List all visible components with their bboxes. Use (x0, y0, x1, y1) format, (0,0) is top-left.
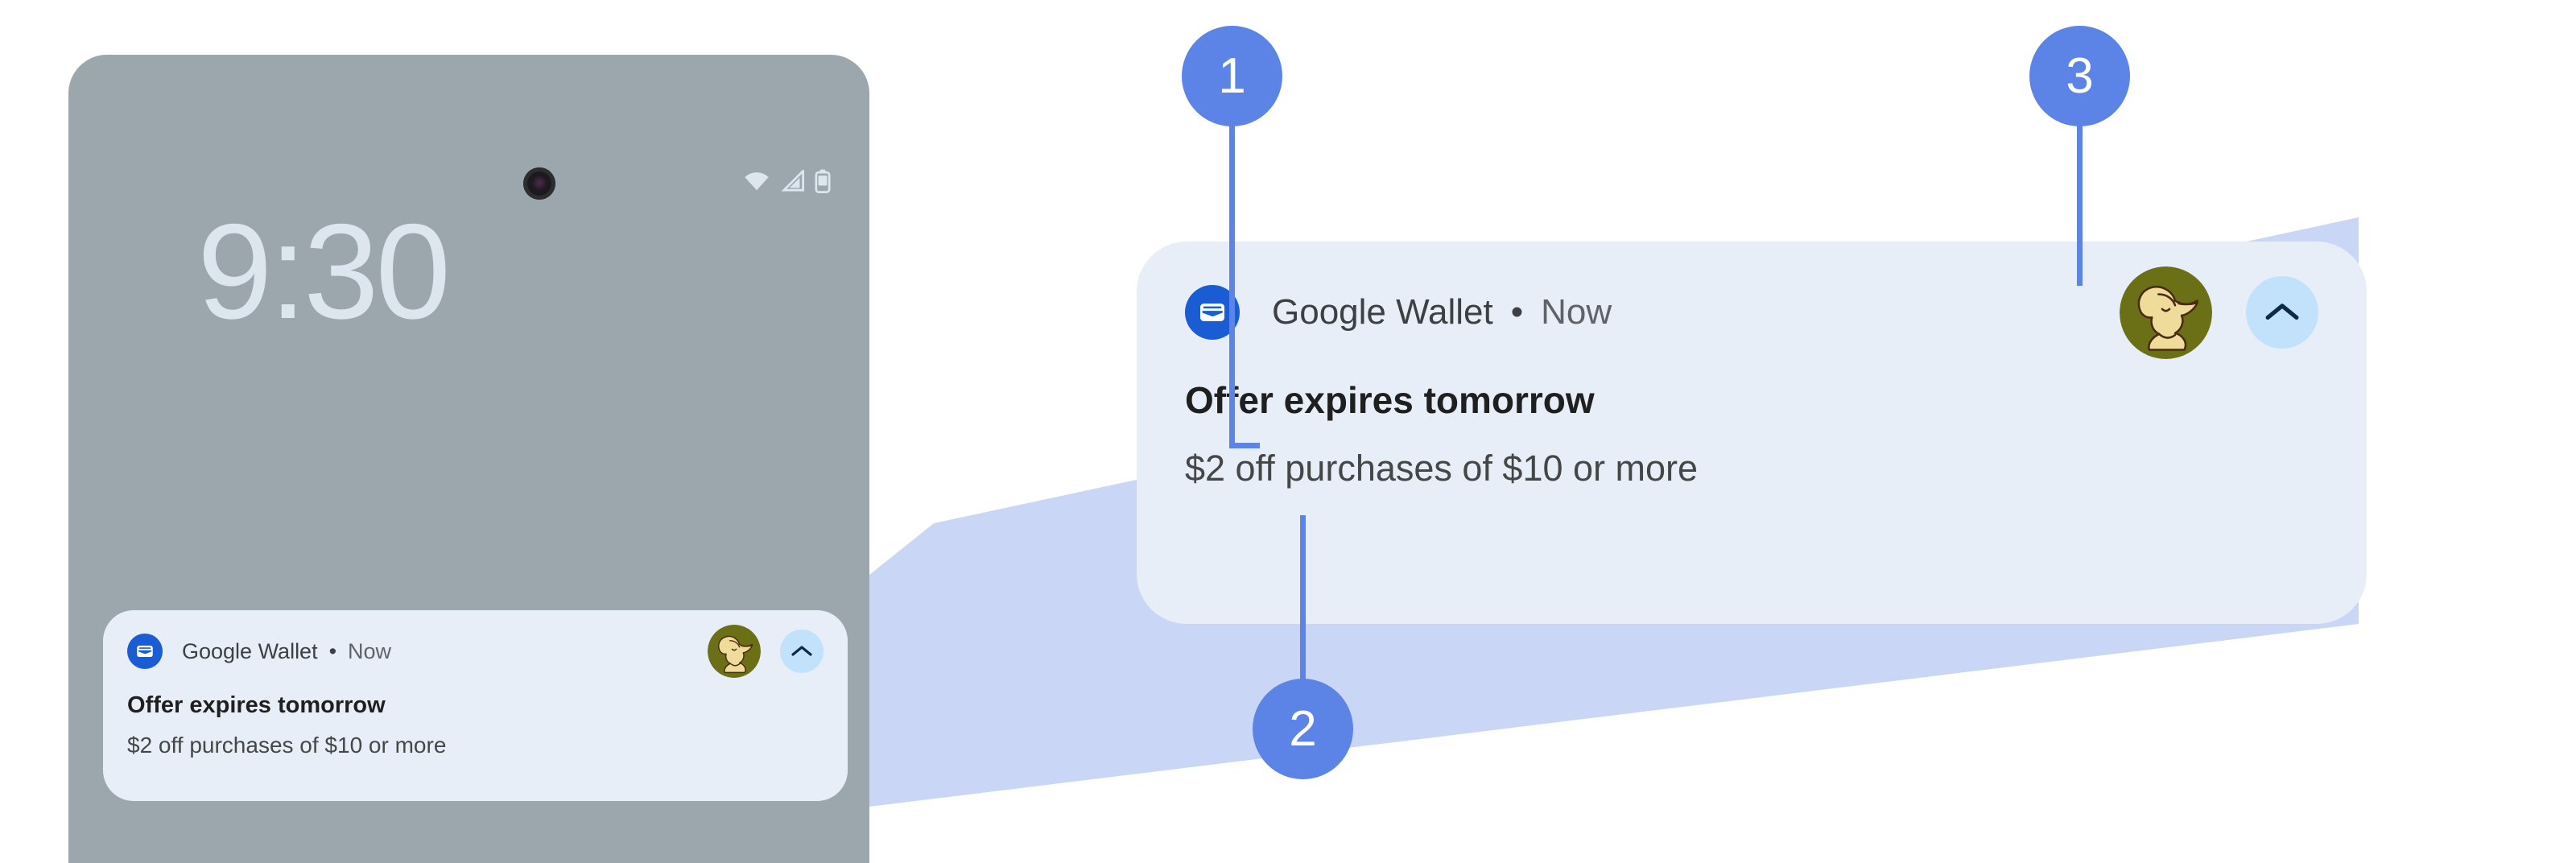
chevron-up-icon (791, 645, 812, 658)
expand-notification-button[interactable] (2246, 276, 2318, 349)
callout-leader-elbow-1 (1229, 443, 1260, 448)
status-bar (742, 169, 831, 193)
notification-separator: • (329, 639, 336, 664)
callout-leader-line-3 (2077, 121, 2083, 286)
notification-card-enlarged[interactable]: Google Wallet • Now Offer expires (1137, 242, 2367, 624)
callout-leader-line-2 (1300, 515, 1306, 684)
cellular-signal-icon (780, 170, 806, 192)
notification-body: $2 off purchases of $10 or more (1185, 448, 2318, 489)
notification-body: $2 off purchases of $10 or more (127, 733, 824, 758)
chevron-up-icon (2264, 302, 2300, 323)
lockscreen-clock: 9:30 (197, 204, 448, 339)
notification-separator: • (1511, 292, 1523, 332)
callout-leader-line-1 (1229, 121, 1235, 448)
notification-timestamp: Now (1541, 292, 1612, 332)
callout-badge-3[interactable]: 3 (2029, 26, 2130, 126)
wifi-icon (742, 170, 771, 192)
illustration-canvas: 9:30 Google Wallet • Now (0, 0, 2576, 863)
phone-mockup: 9:30 Google Wallet • Now (68, 55, 869, 863)
expand-notification-button[interactable] (780, 630, 824, 673)
notification-title: Offer expires tomorrow (127, 692, 824, 719)
callout-badge-2[interactable]: 2 (1253, 679, 1353, 779)
notification-header: Google Wallet • Now (127, 630, 824, 673)
notification-title: Offer expires tomorrow (1185, 378, 2318, 422)
battery-icon (815, 169, 831, 193)
merchant-avatar (708, 625, 761, 678)
google-wallet-icon (127, 634, 163, 669)
merchant-avatar (2120, 266, 2212, 359)
front-camera-icon (523, 167, 555, 200)
notification-app-name: Google Wallet (182, 639, 318, 664)
notification-card-small[interactable]: Google Wallet • Now (103, 610, 848, 801)
callout-badge-1[interactable]: 1 (1182, 26, 1282, 126)
notification-header-enlarged: Google Wallet • Now (1185, 279, 2318, 346)
notification-app-name: Google Wallet (1272, 292, 1493, 332)
notification-timestamp: Now (348, 639, 391, 664)
